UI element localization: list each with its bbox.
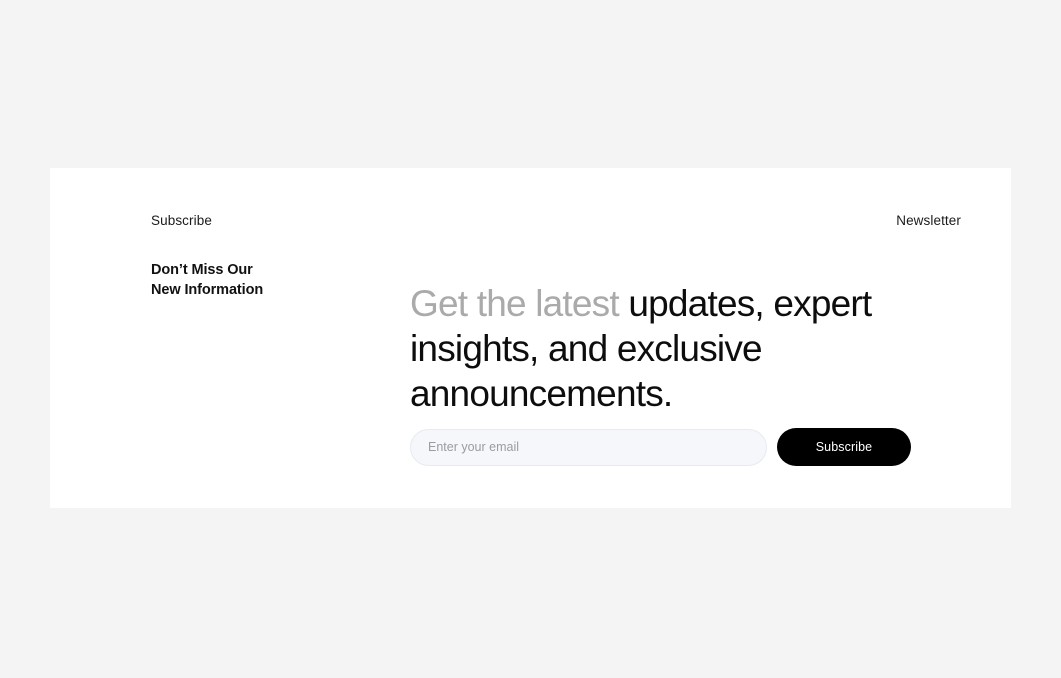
subscribe-button[interactable]: Subscribe [777, 428, 911, 466]
card-meta-row: Subscribe Newsletter [151, 213, 961, 229]
newsletter-card: Subscribe Newsletter Don’t Miss Our New … [50, 168, 1011, 508]
subscribe-form: Subscribe [410, 428, 911, 466]
eyebrow-line-2: New Information [151, 281, 401, 301]
eyebrow-heading: Don’t Miss Our New Information [151, 261, 401, 300]
meta-label-subscribe: Subscribe [151, 213, 212, 229]
email-field[interactable] [410, 429, 767, 466]
page-root: Subscribe Newsletter Don’t Miss Our New … [0, 0, 1061, 678]
eyebrow-line-1: Don’t Miss Our [151, 261, 401, 281]
meta-label-newsletter: Newsletter [896, 213, 961, 229]
headline-muted-text: Get the latest [410, 283, 619, 324]
page-title: Get the latest updates, expert insights,… [410, 281, 920, 416]
